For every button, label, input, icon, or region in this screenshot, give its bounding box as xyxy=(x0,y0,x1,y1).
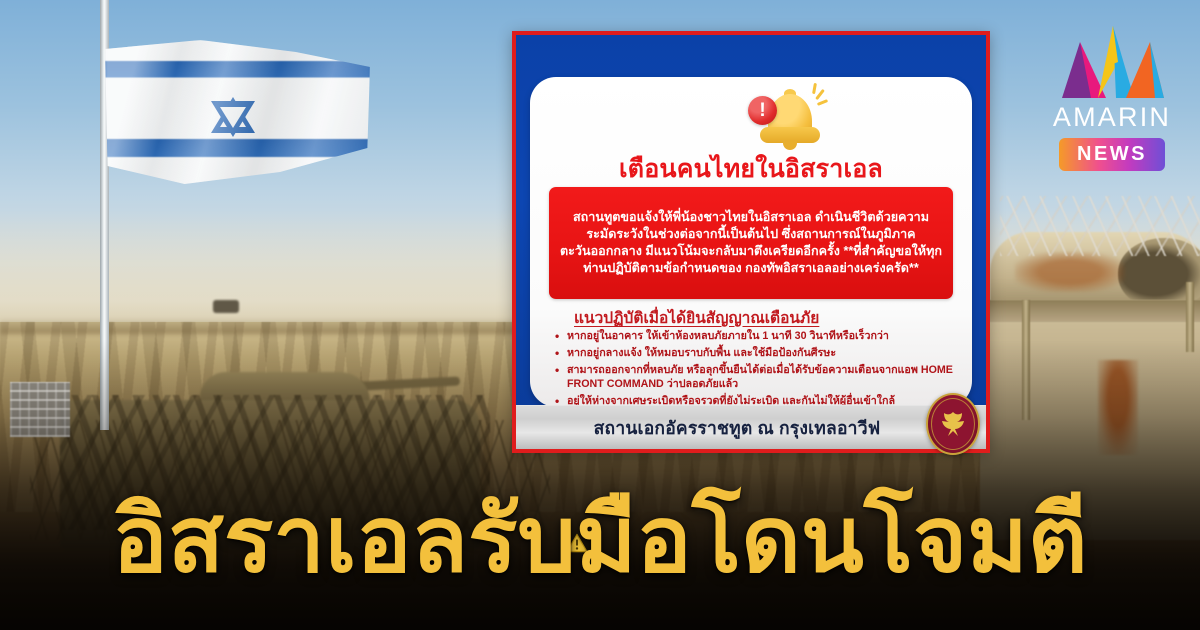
distant-vehicle xyxy=(213,300,239,313)
alert-bell-icon: ! xyxy=(746,80,832,154)
crown-icon xyxy=(1058,22,1168,100)
news-badge: NEWS xyxy=(1059,138,1165,171)
notice-title: เตือนคนไทยในอิสราเอล xyxy=(530,149,972,189)
guidelines-heading-label: แนวปฏิบัติเมื่อได้ยินสัญญาณเตือนภัย xyxy=(574,305,819,330)
list-item: หากอยู่กลางแจ้ง ให้หมอบราบกับพื้น และใช้… xyxy=(554,346,958,361)
news-badge-label: NEWS xyxy=(1077,143,1147,166)
notice-footer: สถานเอกอัครราชทูต ณ กรุงเทลอาวีฟ xyxy=(516,405,986,449)
garuda-icon xyxy=(936,409,970,439)
razor-wire xyxy=(1000,196,1200,256)
amarin-news-logo: AMARIN NEWS xyxy=(1042,22,1182,167)
israel-flag xyxy=(105,40,370,190)
exclamation-badge-icon: ! xyxy=(748,96,777,125)
flag-shading xyxy=(105,40,370,190)
list-item: หากอยู่ในอาคาร ให้เข้าห้องหลบภัยภายใน 1 … xyxy=(554,329,958,344)
guidelines-heading: แนวปฏิบัติเมื่อได้ยินสัญญาณเตือนภัย xyxy=(548,305,958,330)
list-item: สามารถออกจากที่หลบภัย หรือลุกขึ้นยืนได้ต… xyxy=(554,363,958,393)
bell-clapper xyxy=(783,141,797,150)
alert-message-text: สถานทูตขอแจ้งให้พี่น้องชาวไทยในอิสราเอล … xyxy=(549,209,953,277)
brand-wordmark: AMARIN xyxy=(1042,102,1182,133)
embassy-name: สถานเอกอัครราชทูต ณ กรุงเทลอาวีฟ xyxy=(594,414,881,442)
headline: อิสราเอลรับมือโดนโจมตี xyxy=(0,494,1200,586)
embassy-warning-card: ! เตือนคนไทยในอิสราเอล สถานทูตขอแจ้งให้พ… xyxy=(512,31,990,453)
royal-thai-embassy-seal-icon xyxy=(926,393,980,455)
alert-message-box: สถานทูตขอแจ้งให้พี่น้องชาวไทยในอิสราเอล … xyxy=(549,187,953,299)
rust-stain xyxy=(1015,252,1125,292)
bell-motion-lines xyxy=(810,88,834,112)
bunker-ledge xyxy=(980,300,1200,322)
notice-white-card: ! เตือนคนไทยในอิสราเอล สถานทูตขอแจ้งให้พ… xyxy=(530,77,972,407)
